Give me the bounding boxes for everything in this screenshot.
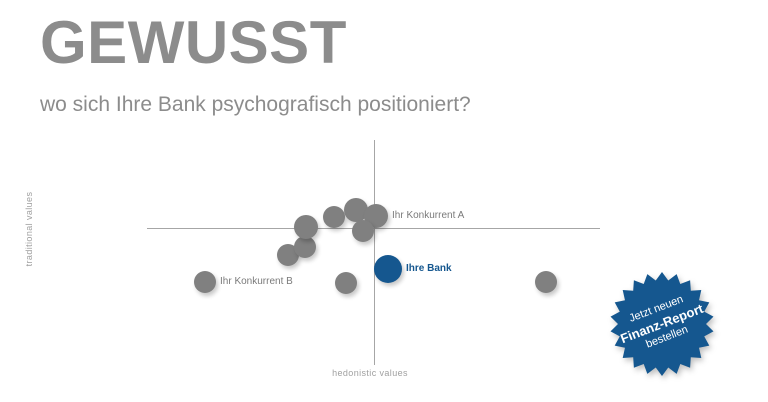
point-label: Ihr Konkurrent A — [392, 210, 464, 221]
bubble-point[interactable] — [294, 236, 316, 258]
starburst-icon — [610, 272, 714, 376]
slide-canvas: GEWUSST wo sich Ihre Bank psychografisch… — [0, 0, 768, 402]
point-label: Ihr Konkurrent B — [220, 276, 293, 287]
bubble-ihr-konkurrent-b[interactable] — [194, 271, 216, 293]
bubble-point[interactable] — [352, 220, 374, 242]
bubble-point[interactable] — [294, 215, 318, 239]
bubble-ihre-bank[interactable] — [374, 255, 402, 283]
y-axis-line — [374, 140, 375, 365]
bubble-point[interactable] — [335, 272, 357, 294]
x-axis-label: hedonistic values — [305, 368, 435, 378]
point-label: Ihre Bank — [406, 263, 452, 274]
bubble-point[interactable] — [323, 206, 345, 228]
bubble-point[interactable] — [535, 271, 557, 293]
y-axis-label: traditional values — [24, 169, 34, 289]
finanz-report-badge[interactable]: Jetzt neuen Finanz-Report bestellen — [610, 272, 714, 376]
